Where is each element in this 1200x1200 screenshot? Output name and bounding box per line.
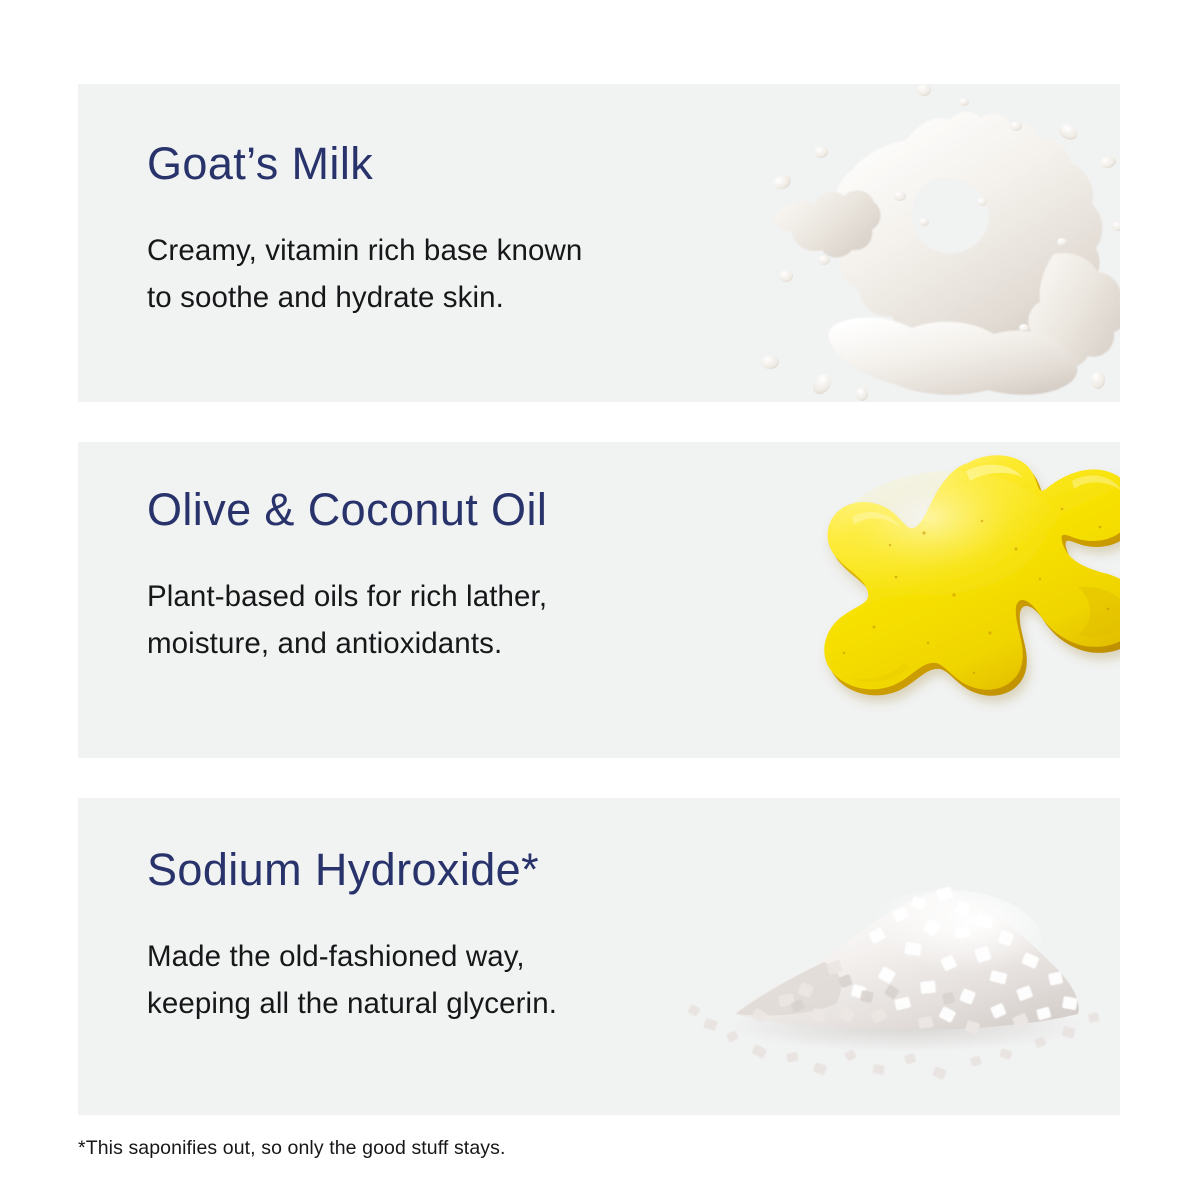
description-line: to soothe and hydrate skin.	[147, 274, 707, 322]
ingredient-text-block: Goat’s Milk Creamy, vitamin rich base kn…	[147, 140, 707, 322]
milk-splash-image	[724, 84, 1120, 402]
footnote-saponification: *This saponifies out, so only the good s…	[78, 1137, 505, 1160]
ingredient-title-sodium-hydroxide: Sodium Hydroxide*	[147, 846, 707, 895]
ingredient-card-olive-coconut-oil: Olive & Coconut Oil Plant-based oils for…	[78, 442, 1120, 758]
ingredient-card-goats-milk: Goat’s Milk Creamy, vitamin rich base kn…	[78, 84, 1120, 402]
description-line: Made the old-fashioned way,	[147, 933, 707, 981]
oil-puddle-image	[778, 442, 1120, 758]
ingredient-title-goats-milk: Goat’s Milk	[147, 140, 707, 189]
description-line: moisture, and antioxidants.	[147, 620, 707, 668]
salt-pile-image	[678, 818, 1118, 1108]
ingredient-description-goats-milk: Creamy, vitamin rich base known to sooth…	[147, 227, 707, 323]
ingredient-title-olive-coconut-oil: Olive & Coconut Oil	[147, 486, 707, 535]
ingredient-description-olive-coconut-oil: Plant-based oils for rich lather, moistu…	[147, 573, 707, 669]
description-line: keeping all the natural glycerin.	[147, 980, 707, 1028]
ingredient-description-sodium-hydroxide: Made the old-fashioned way, keeping all …	[147, 933, 707, 1029]
description-line: Creamy, vitamin rich base known	[147, 227, 707, 275]
ingredient-text-block: Olive & Coconut Oil Plant-based oils for…	[147, 486, 707, 668]
ingredients-infographic: Goat’s Milk Creamy, vitamin rich base kn…	[0, 0, 1200, 1200]
ingredient-text-block: Sodium Hydroxide* Made the old-fashioned…	[147, 846, 707, 1028]
ingredient-card-sodium-hydroxide: Sodium Hydroxide* Made the old-fashioned…	[78, 798, 1120, 1115]
description-line: Plant-based oils for rich lather,	[147, 573, 707, 621]
